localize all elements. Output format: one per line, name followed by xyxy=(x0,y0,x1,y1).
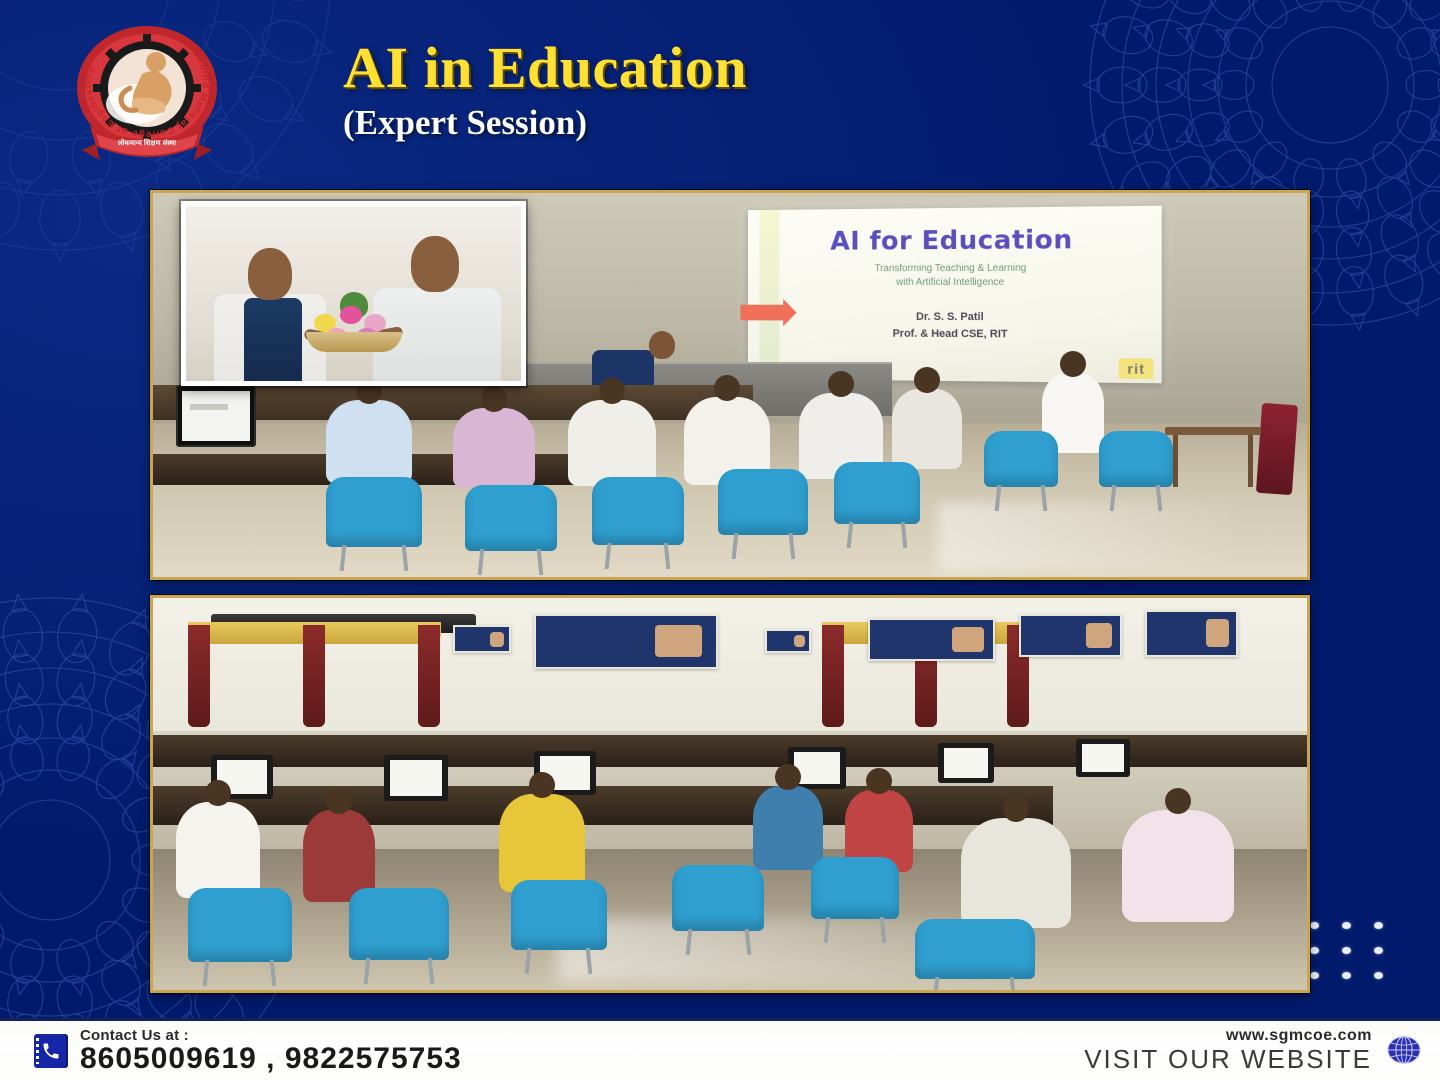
red-drape xyxy=(1256,403,1298,495)
chair xyxy=(672,865,764,931)
chair xyxy=(326,477,422,547)
dot xyxy=(1374,972,1383,979)
phone-book-icon xyxy=(34,1034,68,1068)
dot xyxy=(1310,947,1319,954)
chair xyxy=(915,919,1035,979)
slide-presenter: Dr. S. S. Patil Prof. & Head CSE, RIT xyxy=(767,309,1140,343)
dot xyxy=(1374,947,1383,954)
chair xyxy=(465,485,557,551)
poster-canvas: लोकमान्य शिक्षण संस्था Guru Gobind Mahar… xyxy=(0,0,1440,1080)
website-block[interactable]: www.sgmcoe.com VISIT OUR WEBSITE xyxy=(1084,1027,1422,1074)
dot xyxy=(1342,972,1351,979)
wall-portrait-frame xyxy=(534,614,719,669)
computer-monitor xyxy=(938,743,994,783)
chair xyxy=(1099,431,1173,487)
speaker-head xyxy=(649,331,675,359)
website-cta: VISIT OUR WEBSITE xyxy=(1084,1045,1372,1074)
attendee-foreground xyxy=(1122,810,1234,922)
lab-desk-row-front xyxy=(153,786,1053,825)
presenter-designation: Prof. & Head CSE, RIT xyxy=(767,326,1140,344)
website-text: www.sgmcoe.com VISIT OUR WEBSITE xyxy=(1084,1027,1372,1074)
contact-numbers[interactable]: 8605009619 , 9822575753 xyxy=(80,1043,462,1075)
slide-title: AI for Education xyxy=(767,225,1140,257)
felicitation-person-left-head xyxy=(248,248,292,300)
computer-monitor xyxy=(1076,739,1130,777)
footer-bar: Contact Us at : 8605009619 , 9822575753 … xyxy=(0,1018,1440,1080)
dot xyxy=(1310,972,1319,979)
chair xyxy=(511,880,607,950)
computer-lab-audience-photo xyxy=(150,595,1310,993)
chair xyxy=(188,888,292,962)
attendee xyxy=(176,802,260,898)
rit-logo: rit xyxy=(1119,359,1153,380)
college-logo: लोकमान्य शिक्षण संस्था Guru Gobind Mahar… xyxy=(72,22,222,168)
dot xyxy=(1342,922,1351,929)
slide-content: AI for Education Transforming Teaching &… xyxy=(767,217,1140,373)
wall-portrait-frame xyxy=(765,629,811,653)
dot xyxy=(1310,922,1319,929)
presenter-name: Dr. S. S. Patil xyxy=(767,309,1140,327)
felicitation-person-right-head xyxy=(411,236,459,292)
globe-icon xyxy=(1386,1033,1422,1067)
dot xyxy=(1374,922,1383,929)
felicitation-person-left-vest xyxy=(244,298,302,386)
slide-subtitle: Transforming Teaching & Learning with Ar… xyxy=(767,262,1140,290)
computer-monitor xyxy=(176,385,256,447)
chair xyxy=(592,477,684,545)
dot-grid-decor xyxy=(1310,922,1382,980)
chair xyxy=(349,888,449,960)
hall-scene: AI for Education Transforming Teaching &… xyxy=(153,193,1307,577)
contact-block: Contact Us at : 8605009619 , 9822575753 xyxy=(34,1027,462,1075)
side-table xyxy=(1165,427,1261,435)
slide-subtitle-line2: with Artificial Intelligence xyxy=(767,276,1140,290)
wall-portrait-frame xyxy=(453,625,511,652)
wall-portrait-frame xyxy=(868,618,995,661)
attendee xyxy=(453,408,535,488)
chair xyxy=(718,469,808,535)
attendee xyxy=(892,389,962,469)
computer-monitor xyxy=(384,755,448,801)
expert-session-hall-photo: AI for Education Transforming Teaching &… xyxy=(150,190,1310,580)
title-block: AI in Education (Expert Session) xyxy=(343,38,747,145)
website-url[interactable]: www.sgmcoe.com xyxy=(1084,1027,1372,1045)
attendee-foreground xyxy=(961,818,1071,928)
curtain xyxy=(188,625,210,727)
flower-bouquet xyxy=(306,298,402,352)
wall-portrait-frame xyxy=(1019,614,1123,657)
attendee xyxy=(753,786,823,870)
lab-scene xyxy=(153,598,1307,990)
dot xyxy=(1342,947,1351,954)
curtain xyxy=(822,625,844,727)
chair xyxy=(834,462,920,524)
page-subtitle: (Expert Session) xyxy=(343,101,747,145)
lab-desk-row-back xyxy=(153,735,1307,766)
slide-subtitle-line1: Transforming Teaching & Learning xyxy=(767,262,1140,277)
projector-screen: AI for Education Transforming Teaching &… xyxy=(748,206,1162,383)
contact-text: Contact Us at : 8605009619 , 9822575753 xyxy=(80,1027,462,1075)
curtain xyxy=(418,625,440,727)
chair xyxy=(984,431,1058,487)
attendee xyxy=(499,794,585,892)
curtain xyxy=(303,625,325,727)
chair xyxy=(811,857,899,919)
attendee xyxy=(568,400,656,486)
attendee xyxy=(326,400,412,484)
felicitation-photo xyxy=(181,201,526,386)
page-title: AI in Education xyxy=(343,38,747,97)
wall-portrait-frame xyxy=(1145,610,1237,657)
